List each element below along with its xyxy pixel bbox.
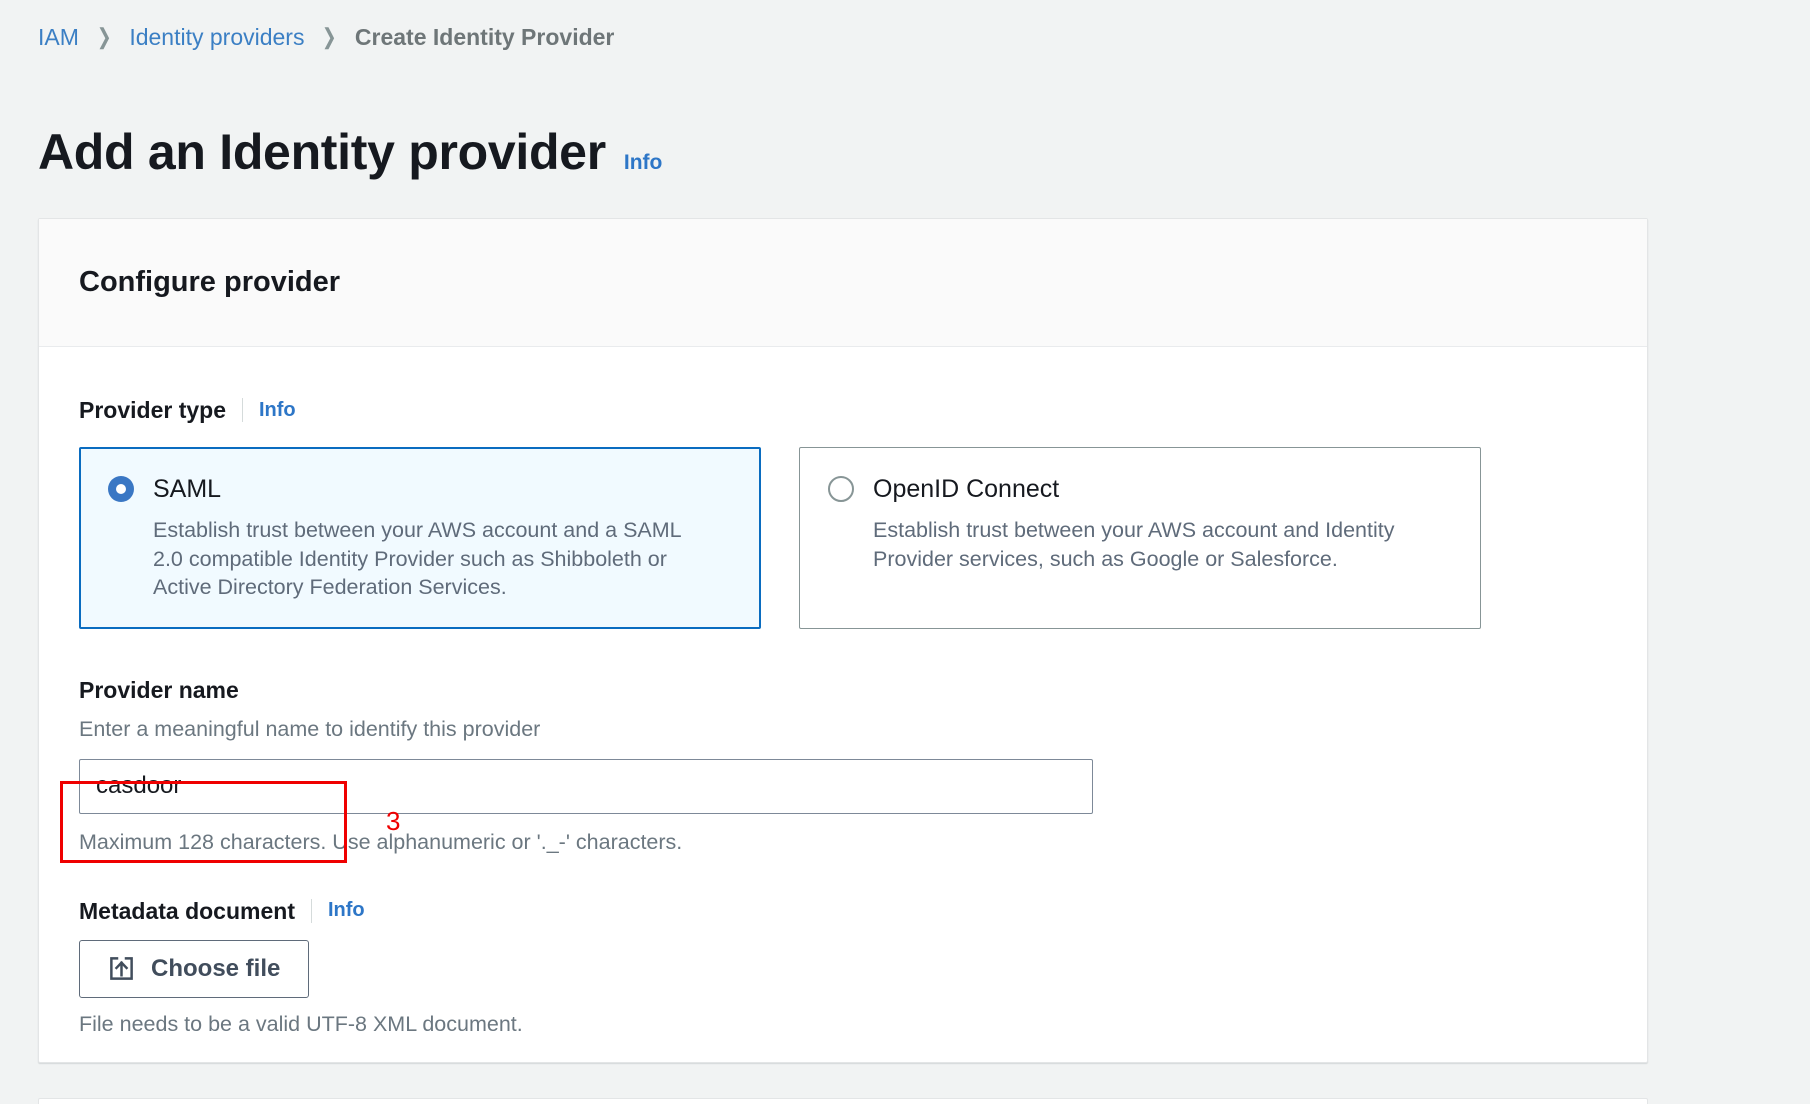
- radio-selected-icon[interactable]: [108, 476, 134, 502]
- provider-type-option-openid-connect[interactable]: OpenID Connect Establish trust between y…: [799, 447, 1481, 629]
- provider-type-label: Provider type: [79, 395, 226, 425]
- label-divider: [311, 899, 312, 923]
- provider-type-info-link[interactable]: Info: [259, 399, 296, 422]
- oidc-option-description: Establish trust between your AWS account…: [873, 516, 1433, 573]
- breadcrumb-item-identity-providers[interactable]: Identity providers: [129, 22, 304, 52]
- panel-header: Configure provider: [39, 219, 1647, 347]
- breadcrumb-item-iam[interactable]: IAM: [38, 22, 79, 52]
- configure-provider-panel: Configure provider Provider type Info SA…: [38, 218, 1648, 1063]
- provider-name-input[interactable]: [79, 759, 1093, 814]
- oidc-option-head: OpenID Connect: [828, 474, 1450, 504]
- provider-name-constraint: Maximum 128 characters. Use alphanumeric…: [79, 828, 1607, 856]
- provider-name-section: Provider name Enter a meaningful name to…: [79, 675, 1607, 856]
- breadcrumb-separator-icon: ❯: [97, 22, 112, 52]
- provider-name-description: Enter a meaningful name to identify this…: [79, 715, 1607, 743]
- provider-name-label: Provider name: [79, 675, 1607, 705]
- choose-file-button[interactable]: Choose file: [79, 940, 309, 998]
- oidc-option-title: OpenID Connect: [873, 474, 1059, 504]
- saml-option-head: SAML: [108, 474, 730, 504]
- metadata-document-label: Metadata document: [79, 896, 295, 926]
- saml-option-title: SAML: [153, 474, 221, 504]
- metadata-document-helper-text: File needs to be a valid UTF-8 XML docum…: [79, 1010, 1607, 1038]
- page-title-info-link[interactable]: Info: [624, 151, 662, 175]
- breadcrumb-separator-icon: ❯: [322, 22, 337, 52]
- breadcrumb: IAM ❯ Identity providers ❯ Create Identi…: [38, 22, 614, 52]
- panel-header-title: Configure provider: [79, 266, 340, 299]
- upload-icon: [108, 955, 135, 982]
- saml-option-description: Establish trust between your AWS account…: [153, 516, 713, 602]
- metadata-document-section: Metadata document Info Choose file File: [79, 896, 1607, 1038]
- breadcrumb-item-create-identity-provider: Create Identity Provider: [355, 22, 614, 52]
- metadata-document-info-link[interactable]: Info: [328, 899, 365, 922]
- metadata-document-label-row: Metadata document Info: [79, 896, 1607, 926]
- page-title-row: Add an Identity provider Info: [38, 88, 662, 215]
- next-panel-peek: [38, 1098, 1648, 1104]
- provider-type-options: SAML Establish trust between your AWS ac…: [79, 447, 1607, 629]
- choose-file-label: Choose file: [151, 955, 280, 983]
- panel-body: Provider type Info SAML Establish trust …: [39, 347, 1647, 1038]
- page-root: IAM ❯ Identity providers ❯ Create Identi…: [0, 0, 1810, 1104]
- provider-type-option-saml[interactable]: SAML Establish trust between your AWS ac…: [79, 447, 761, 629]
- provider-type-label-row: Provider type Info: [79, 395, 1607, 425]
- radio-unselected-icon[interactable]: [828, 476, 854, 502]
- label-divider: [242, 398, 243, 422]
- page-title: Add an Identity provider: [38, 122, 606, 182]
